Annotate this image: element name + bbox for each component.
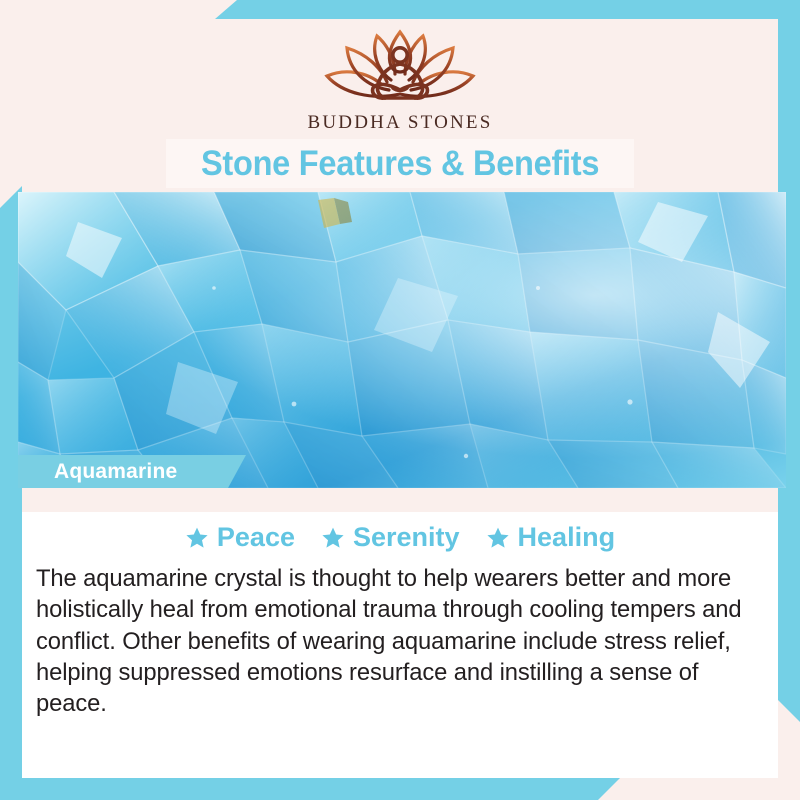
poster-canvas: BUDDHA STONES Stone Features & Benefits bbox=[0, 0, 800, 800]
keyword-item-peace: Peace bbox=[185, 522, 295, 553]
star-icon bbox=[486, 526, 510, 550]
keyword-label: Serenity bbox=[353, 522, 460, 553]
keyword-label: Healing bbox=[518, 522, 616, 553]
keyword-list: Peace Serenity Healing bbox=[22, 512, 778, 553]
keyword-item-healing: Healing bbox=[486, 522, 616, 553]
brand-header: BUDDHA STONES bbox=[0, 24, 800, 134]
decor-bar-bottom bbox=[0, 778, 620, 800]
brand-name: BUDDHA STONES bbox=[0, 112, 800, 134]
star-icon bbox=[321, 526, 345, 550]
page-title: Stone Features & Benefits bbox=[201, 144, 599, 184]
content-panel: Peace Serenity Healing The aqua bbox=[22, 512, 778, 778]
lotus-meditation-logo-icon bbox=[0, 24, 800, 110]
decor-bar-top bbox=[215, 0, 800, 19]
keyword-label: Peace bbox=[217, 522, 295, 553]
description-text: The aquamarine crystal is thought to hel… bbox=[36, 563, 742, 720]
hero-image bbox=[18, 192, 786, 488]
title-banner: Stone Features & Benefits bbox=[166, 139, 634, 188]
stone-name-label: Aquamarine bbox=[54, 460, 177, 484]
star-icon bbox=[185, 526, 209, 550]
stone-name-tag: Aquamarine bbox=[18, 455, 246, 488]
keyword-item-serenity: Serenity bbox=[321, 522, 460, 553]
